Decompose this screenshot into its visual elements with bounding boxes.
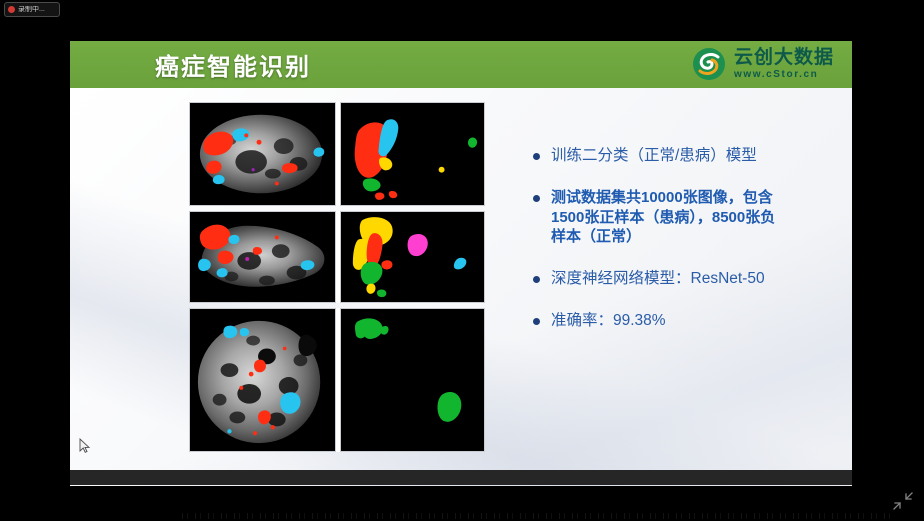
segmentation-mask-1 [340,102,485,206]
recording-label: 录制中... [18,6,45,13]
bullet-dot-icon [533,195,540,202]
record-dot-icon [8,6,15,13]
brand-logo-text: 云创大数据 www.cStor.cn [734,48,834,80]
scan-image-3 [189,308,336,452]
list-item: 深度神经网络模型：ResNet-50 [533,269,783,289]
brand-name: 云创大数据 [734,48,834,67]
segmentation-mask-3 [340,308,485,452]
bullet-text: 深度神经网络模型：ResNet-50 [551,269,765,289]
slide-body: 训练二分类（正常/患病）模型 测试数据集共10000张图像，包含1500张正样本… [70,88,852,486]
scan-image-2 [189,211,336,303]
bullet-dot-icon [533,318,540,325]
bottom-noise-band [180,513,894,519]
bullet-text: 训练二分类（正常/患病）模型 [551,146,757,166]
presentation-slide: 癌症智能识别 云创大数据 www.cStor.cn [70,41,852,486]
bullet-dot-icon [533,276,540,283]
figure-row [189,102,485,206]
list-item: 测试数据集共10000张图像，包含1500张正样本（患病），8500张负样本（正… [533,188,783,247]
bullet-text: 准确率：99.38% [551,311,666,331]
brand-logo: 云创大数据 www.cStor.cn [691,46,834,82]
brand-url: www.cStor.cn [734,70,834,80]
figure-row [189,308,485,452]
exit-fullscreen-icon[interactable] [892,490,914,512]
scan-image-1 [189,102,336,206]
recording-badge: 录制中... [4,2,60,17]
bullet-text: 测试数据集共10000张图像，包含1500张正样本（患病），8500张负样本（正… [551,188,783,247]
bullet-list: 训练二分类（正常/患病）模型 测试数据集共10000张图像，包含1500张正样本… [533,146,783,486]
list-item: 训练二分类（正常/患病）模型 [533,146,783,166]
figure-grid [189,102,485,486]
mouse-cursor [79,438,91,454]
list-item: 准确率：99.38% [533,311,783,331]
bullet-dot-icon [533,153,540,160]
slide-header: 癌症智能识别 云创大数据 www.cStor.cn [70,41,852,88]
page-title: 癌症智能识别 [155,47,311,82]
cstor-swirl-icon [691,46,727,82]
figure-row [189,211,485,303]
segmentation-mask-2 [340,211,485,303]
